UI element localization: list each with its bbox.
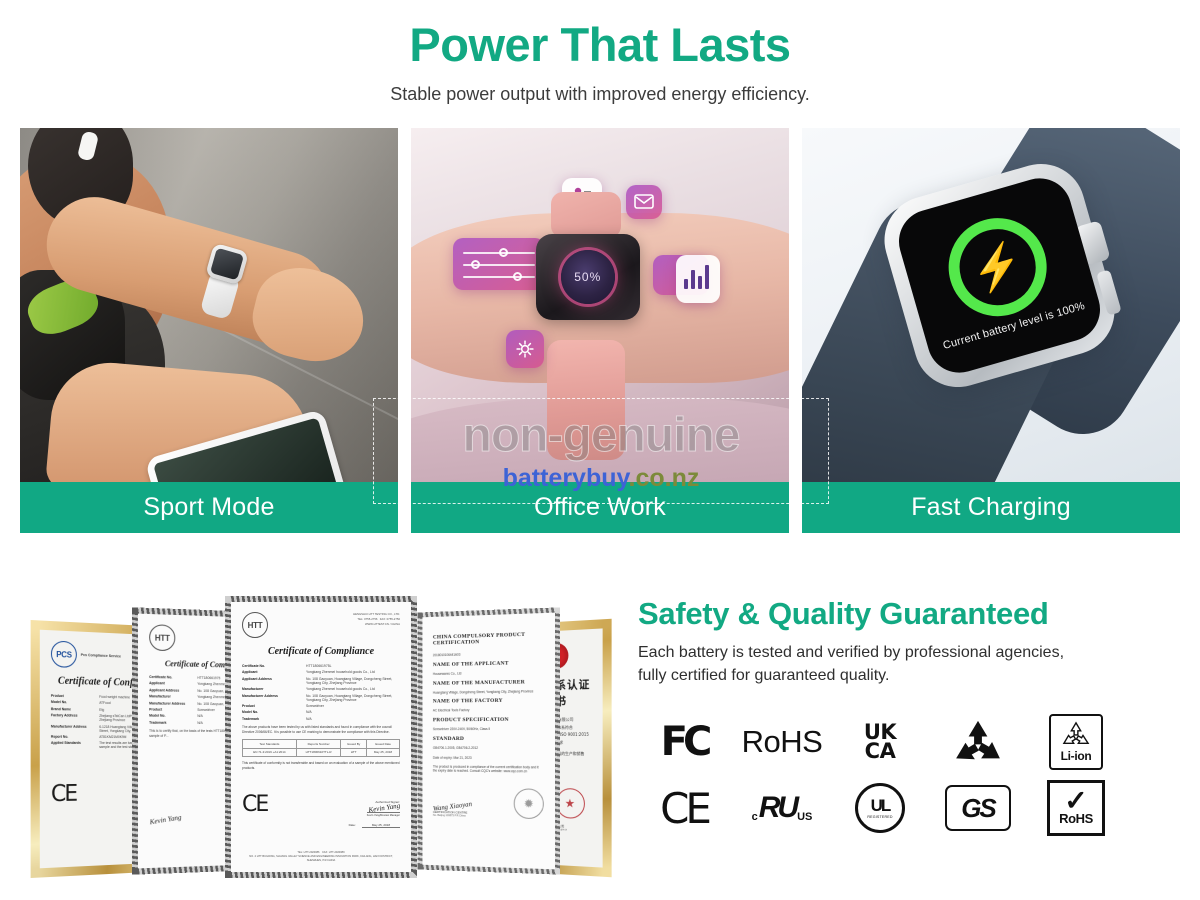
cert-field-key: NAME OF THE APPLICANT (433, 660, 544, 668)
cert-field-key: Model No. (149, 714, 193, 718)
cert-field-value: 2018010106441A03 (433, 651, 544, 658)
cert-field-key: Manufacturer (242, 687, 302, 691)
cert-field-value: Screwdriver (306, 704, 400, 708)
chart-icon (676, 255, 720, 303)
sport-mode-photo (20, 128, 398, 482)
badge-row-1: FC RoHS UK CA (638, 709, 1180, 775)
cert-field-key: Manufacturer Address (51, 724, 95, 732)
feature-card-fast-charging[interactable]: ⚡ Current battery level is 100% Fast Cha… (802, 128, 1180, 533)
rohs-check-badge: ✓ RoHS (1030, 780, 1122, 836)
battery-level-value: 50% (561, 250, 615, 304)
cert-field-value: N/A (306, 710, 400, 714)
fast-charging-photo: ⚡ Current battery level is 100% (802, 128, 1180, 482)
cert-field-value: HTT180661975L (306, 664, 400, 668)
certification-badges: FC RoHS UK CA (638, 709, 1180, 841)
ce-mark-icon: CE (242, 792, 267, 817)
rohs-box-label: RoHS (1059, 811, 1093, 826)
page-title: Power That Lasts (0, 18, 1200, 72)
page-subtitle: Stable power output with improved energy… (0, 84, 1200, 105)
safety-title: Safety & Quality Guaranteed (638, 596, 1180, 632)
cert-field-key: Date of expiry (433, 756, 452, 760)
safety-description-line1: Each battery is tested and verified by p… (638, 641, 1180, 664)
cert-field-key: Brand Name (51, 707, 95, 712)
certificate-issuer: Pcs Compliance Service (81, 653, 121, 659)
feature-card-sport-mode[interactable]: Sport Mode (20, 128, 398, 533)
gear-icon (506, 330, 544, 368)
cert-field-key: Trademark (242, 717, 302, 721)
page-header: Power That Lasts Stable power output wit… (0, 0, 1200, 105)
recycle-badge (932, 719, 1024, 765)
ul-sub-label: REGISTERED (867, 815, 892, 819)
cert-field-key: Applicant (242, 670, 302, 674)
culus-prefix: c (752, 811, 758, 823)
cert-field-key: Applicant (149, 681, 193, 686)
certificates-gallery: PCS Pcs Compliance Service Certificate o… (20, 588, 620, 888)
cert-field-key: Certificate No. (242, 664, 302, 668)
fcc-badge-label: FC (661, 719, 708, 765)
cert-field-key: Certificate No. (149, 675, 193, 680)
cert-field-key: Manufacturer Address (149, 701, 193, 705)
certificate-ccc[interactable]: CHINA COMPULSORY PRODUCT CERTIFICATION 2… (418, 607, 560, 874)
certificate-footer-note: This certificate of conformity is not tr… (242, 761, 400, 771)
certificate-body: The above products have been tested by u… (242, 725, 400, 735)
cert-field-value: Huangtang Village, Dongcheng Street, Yon… (433, 689, 544, 695)
ukca-bottom-label: CA (864, 742, 896, 761)
ce-mark-icon: CE (51, 782, 76, 808)
cert-field-key: Manufacturer Address (242, 694, 302, 702)
recycle-icon (953, 719, 1003, 765)
certificate-title: CHINA COMPULSORY PRODUCT CERTIFICATION (433, 631, 544, 646)
recycle-icon (1061, 721, 1091, 748)
cert-field-value: No. 108 Gaoyuan, Huangtang Village, Dong… (306, 694, 400, 702)
lightning-bolt-icon: ⚡ (966, 239, 1028, 294)
bottom-section: PCS Pcs Compliance Service Certificate o… (0, 588, 1200, 888)
cert-field-value: Housewares Co., Ltd (433, 670, 544, 677)
certificate-stamp: ✹ (514, 789, 544, 820)
rohs-badge: RoHS (736, 724, 828, 760)
cert-field-value: AC Electrical Tools Factory (433, 708, 544, 714)
cert-field-key: Factory Address (51, 713, 95, 722)
cert-field-key: Manufacturer (149, 694, 193, 699)
table-header: Issued By (341, 740, 367, 748)
cert-field-value: Screwdriver 220V-240V, 50/60Hz, Class II (433, 727, 544, 732)
certificate-address: No. Beijing 100875 P.R.China (433, 814, 472, 818)
culus-main: RU (759, 793, 796, 823)
cert-field-value: Yongkang Zhenmei household goods Co., Lt… (306, 687, 400, 691)
settings-sliders-icon (453, 238, 545, 290)
table-cell: HTT (341, 748, 367, 756)
cert-field-value: Mar 21, 2023 (453, 756, 471, 760)
ce-badge: CE (638, 784, 730, 833)
office-work-photo: 50% (411, 128, 789, 482)
fcc-badge: FC (638, 719, 730, 765)
ul-label: UL (871, 797, 890, 814)
feature-card-office-work[interactable]: 50% Office Work (411, 128, 789, 533)
table-cell: May 25, 2018 (366, 748, 399, 756)
cert-field-value: GB4706.1-2005, GB4706.2-2012 (433, 746, 544, 751)
feature-cards-row: Sport Mode (0, 128, 1200, 533)
certificate-compliance[interactable]: HTT HENGSHUI HTT TESTING CO., LTD.TEL: 0… (225, 596, 417, 878)
cert-field-key: Applied Standards (51, 741, 95, 749)
cert-field-key: Product (149, 707, 193, 711)
cert-field-value: N/A (306, 717, 400, 721)
smartwatch-icon: 50% (536, 234, 640, 320)
cert-field-key: Applicant Address (242, 677, 302, 685)
ce-badge-label: CE (660, 784, 708, 833)
cert-field-key: Product (51, 694, 95, 699)
cert-field-key: Report No. (51, 735, 95, 739)
badge-row-2: CE c RU US UL REGISTERED GS (638, 775, 1180, 841)
safety-description-line2: fully certified for guaranteed quality. (638, 664, 1180, 687)
ukca-badge: UK CA (834, 723, 926, 762)
feature-card-caption: Office Work (411, 482, 789, 533)
cert-field-key: STANDARD (433, 736, 544, 742)
cert-field-value: No. 108 Gaoyuan, Huangtang Village, Dong… (306, 677, 400, 685)
li-ion-recycle-badge: Li-ion (1030, 714, 1122, 770)
date-label: Date: (349, 823, 356, 827)
cert-field-key: Trademark (149, 720, 193, 724)
htt-logo-icon: HTT (242, 612, 268, 638)
mail-icon (626, 185, 662, 219)
gs-label: GS (945, 785, 1011, 831)
feature-card-caption: Fast Charging (802, 482, 1180, 533)
table-cell: EN 71-3:2019 +A1:2014 (243, 748, 297, 756)
feature-card-caption: Sport Mode (20, 482, 398, 533)
pcs-logo-icon: PCS (51, 641, 77, 668)
date-value: May 25, 2018 (362, 823, 400, 828)
li-ion-label: Li-ion (1061, 749, 1092, 763)
table-header: Issued Date (366, 740, 399, 748)
cert-field-value: Yongkang Zhenmei household goods Co., Lt… (306, 670, 400, 674)
table-header: Reports Number (296, 740, 341, 748)
ul-registered-badge: UL REGISTERED (834, 783, 926, 833)
certificate-table: Test Standards Reports Number Issued By … (242, 739, 400, 756)
charging-ring-icon: ⚡ (936, 206, 1057, 327)
cert-field-key: Model No. (242, 710, 302, 714)
certificate-title: Certificate of Compliance (242, 646, 400, 657)
cert-field-key: NAME OF THE FACTORY (433, 698, 544, 705)
cert-field-key: Product (242, 704, 302, 708)
htt-logo-icon: HTT (149, 624, 175, 651)
culus-badge: c RU US (736, 793, 828, 823)
cert-field-key: PRODUCT SPECIFICATION (433, 717, 544, 724)
culus-suffix: US (797, 811, 812, 823)
cert-field-key: NAME OF THE MANUFACTURER (433, 679, 544, 687)
rohs-badge-label: RoHS (742, 724, 823, 760)
cert-field-key: Applicant Address (149, 688, 193, 693)
safety-description: Each battery is tested and verified by p… (638, 641, 1180, 687)
check-icon: ✓ (1064, 791, 1087, 811)
gs-badge: GS (932, 785, 1024, 831)
safety-quality-section: Safety & Quality Guaranteed Each battery… (620, 588, 1180, 888)
table-header: Test Standards (243, 740, 297, 748)
cert-field-key: Model No. (51, 700, 95, 705)
table-cell: HTT1806610TTL-R (296, 748, 341, 756)
